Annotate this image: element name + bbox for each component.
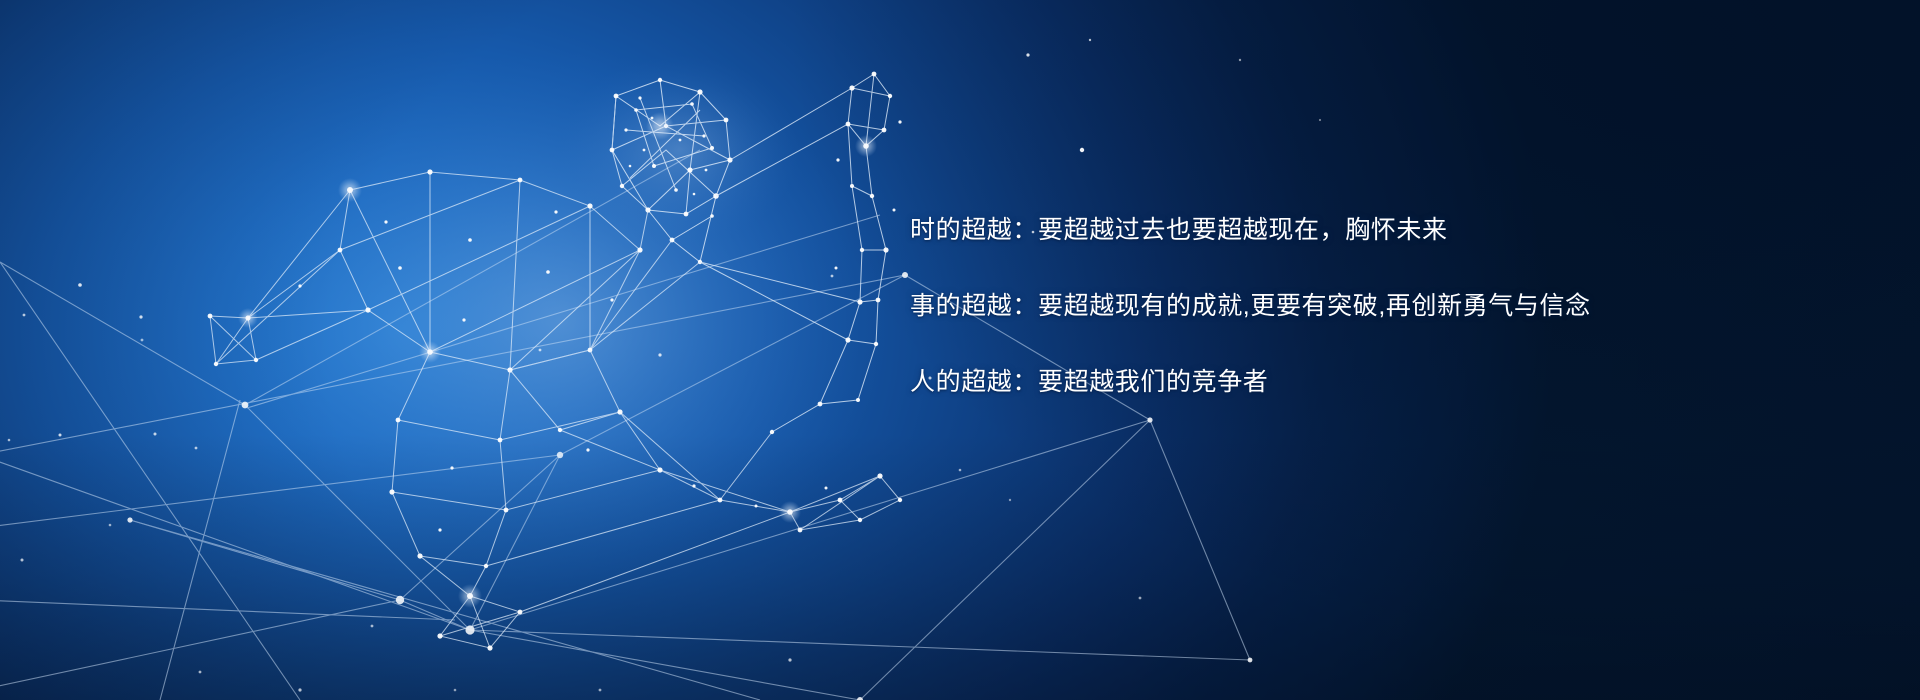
slogan-line-1: 时的超越：要超越过去也要超越现在，胸怀未来 — [910, 218, 1840, 243]
slogan-line-2: 事的超越：要超越现有的成就,更要有突破,再创新勇气与信念 — [910, 294, 1840, 319]
slogan-text-block: 时的超越：要超越过去也要超越现在，胸怀未来 事的超越：要超越现有的成就,更要有突… — [910, 218, 1840, 395]
hero-banner: 时的超越：要超越过去也要超越现在，胸怀未来 事的超越：要超越现有的成就,更要有突… — [0, 0, 1920, 700]
slogan-line-3: 人的超越：要超越我们的竞争者 — [910, 370, 1840, 395]
